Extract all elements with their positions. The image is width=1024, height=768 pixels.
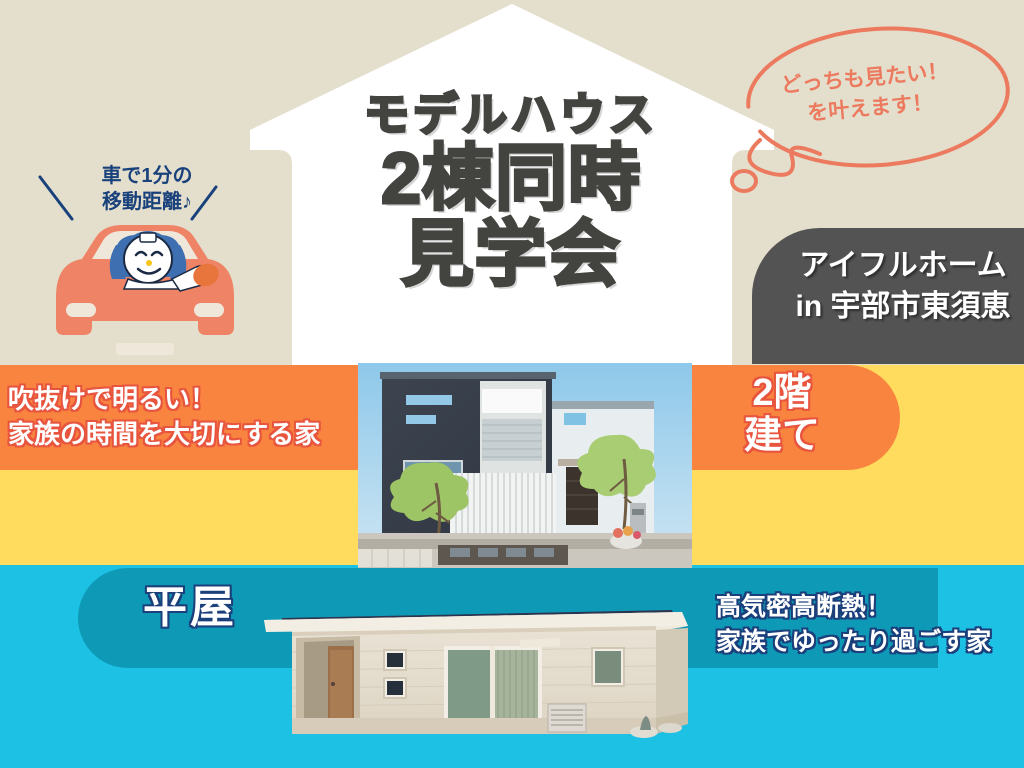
two-story-copy-line-2: 家族の時間を大切にする家 xyxy=(8,417,368,452)
two-story-house-photo xyxy=(358,363,692,570)
headline-line-2: 2棟同時 xyxy=(296,143,726,215)
company-badge: アイフルホーム in 宇部市東須恵 xyxy=(752,228,1024,364)
thought-bubble: どっちも見たい！ を叶えます！ xyxy=(728,22,1018,207)
page-title: モデルハウス 2棟同時 見学会 xyxy=(296,92,726,291)
company-badge-text: アイフルホーム in 宇部市東須恵 xyxy=(772,246,1024,327)
one-story-badge: 平屋 xyxy=(110,585,270,631)
two-story-copy-line-1: 吹抜けで明るい！ xyxy=(8,382,368,417)
car-callout-line-1: 車で1分の xyxy=(72,163,222,189)
car-callout-text: 車で1分の 移動距離♪ xyxy=(72,163,222,215)
car-callout: 車で1分の 移動距離♪ xyxy=(20,155,270,360)
poster-root: モデルハウス 2棟同時 見学会 どっちも見たい！ を叶えます！ xyxy=(0,0,1024,768)
one-story-copy-line-1: 高気密高断熱！ xyxy=(716,590,1024,625)
headline-line-3: 見学会 xyxy=(296,219,726,291)
two-story-badge-line-1: 2階 xyxy=(712,372,852,415)
headline-line-1: モデルハウス xyxy=(296,92,726,137)
car-callout-line-2: 移動距離♪ xyxy=(72,189,222,215)
two-story-badge: 2階 建て xyxy=(712,372,852,457)
two-story-copy: 吹抜けで明るい！ 家族の時間を大切にする家 xyxy=(8,382,368,452)
company-name: アイフルホーム xyxy=(772,246,1024,287)
company-location: in 宇部市東須恵 xyxy=(772,287,1024,328)
two-story-badge-line-2: 建て xyxy=(712,415,852,458)
one-story-copy-line-2: 家族でゆったり過ごす家 xyxy=(716,625,1024,660)
one-story-house-photo xyxy=(252,592,704,755)
one-story-copy: 高気密高断熱！ 家族でゆったり過ごす家 xyxy=(716,590,1024,659)
